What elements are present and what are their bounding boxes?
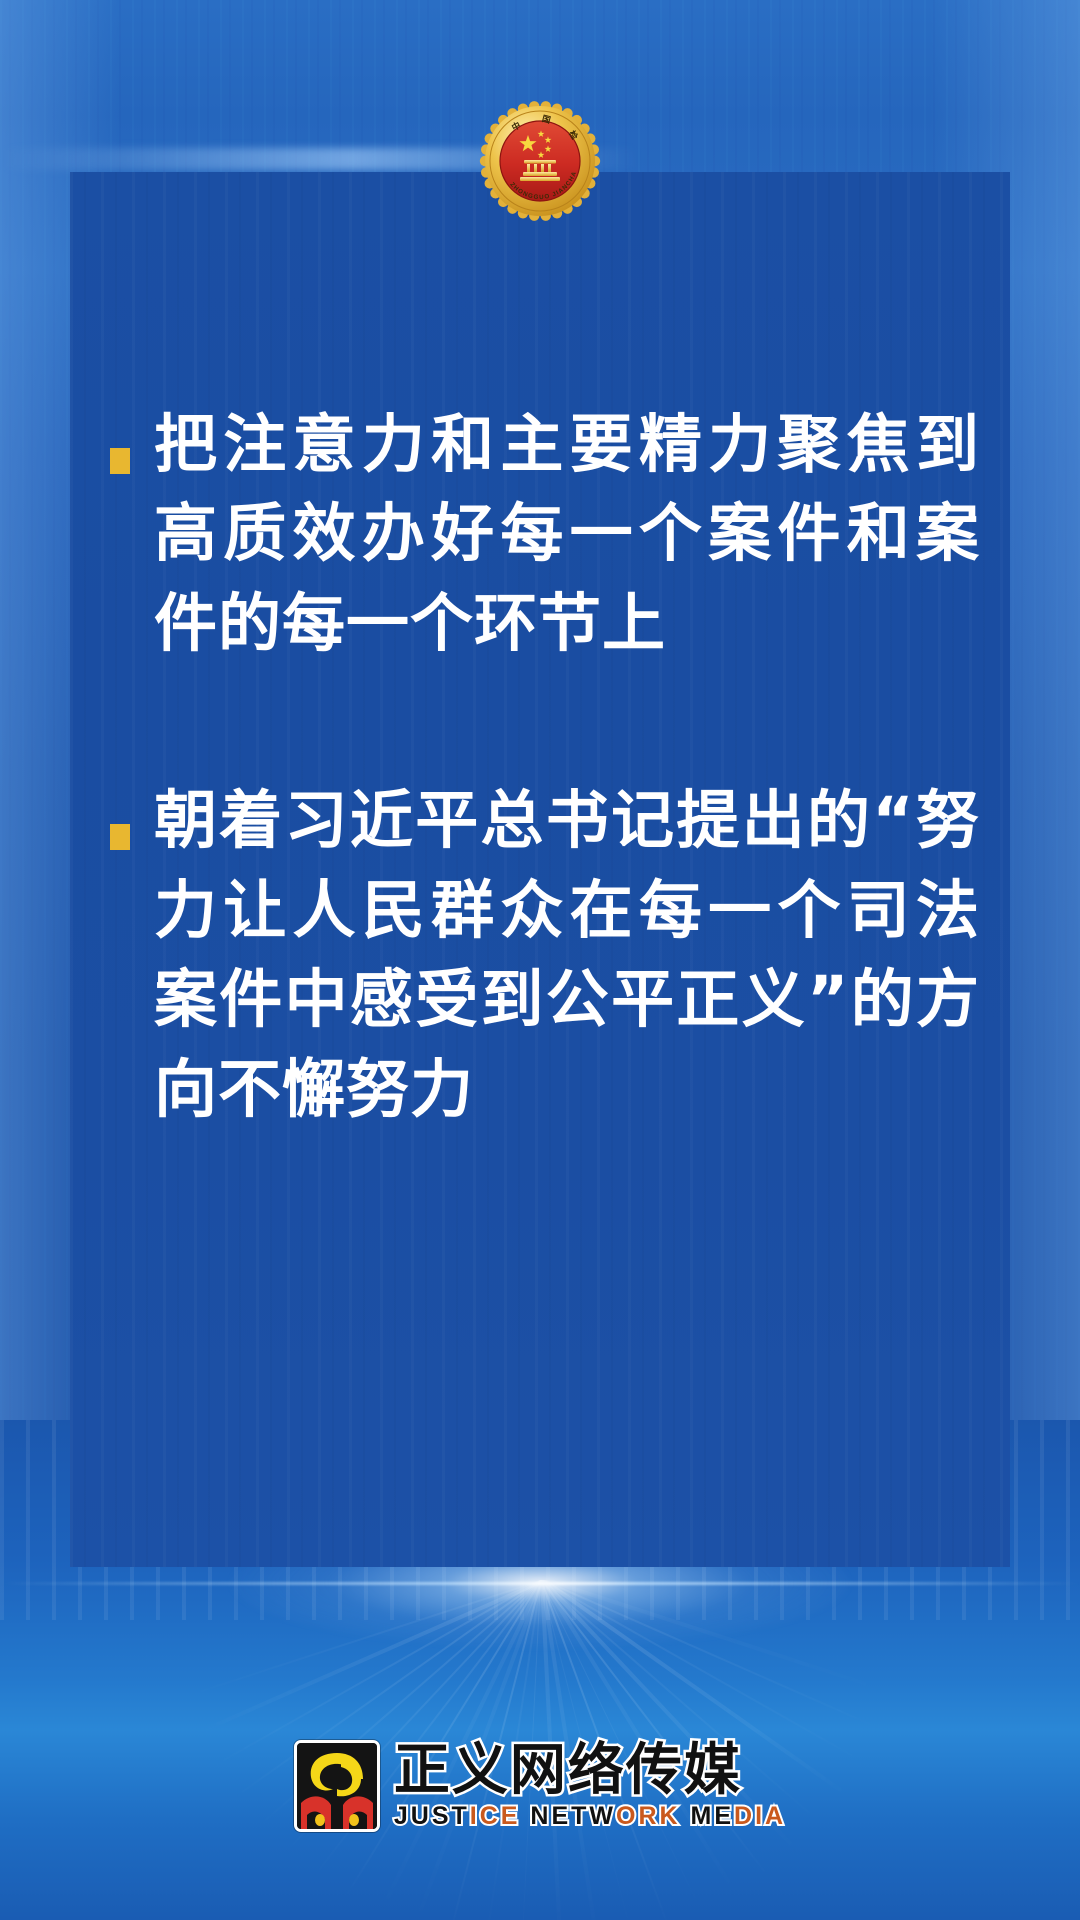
list-item: 朝着习近平总书记提出的“努力让人民群众在每一个司法案件中感受到公平正义”的方向不… <box>110 776 980 1134</box>
china-procuratorate-emblem: 中 国 检 察 ZHONGGUO JIANCHA <box>479 100 601 222</box>
list-item: 把注意力和主要精力聚焦到高质效办好每一个案件和案件的每一个环节上 <box>110 400 980 668</box>
brand-name-en: JUSTICE NETWORK MEDIA <box>394 1803 786 1829</box>
brand-text: 正义网络传媒 JUSTICE NETWORK MEDIA <box>394 1742 786 1829</box>
bullet-text: 把注意力和主要精力聚焦到高质效办好每一个案件和案件的每一个环节上 <box>154 400 980 668</box>
brand-en-part: ICE <box>470 1802 521 1830</box>
poster-root: 中 国 检 察 ZHONGGUO JIANCHA 把注意力和主要精力聚焦到高质效… <box>0 0 1080 1920</box>
brand-en-part: ME <box>681 1802 734 1830</box>
brand-name-cn: 正义网络传媒 <box>394 1742 786 1799</box>
brand-en-part: JUST <box>394 1802 470 1830</box>
brand-en-part: DIA <box>734 1802 786 1830</box>
brand-en-part: NETW <box>520 1802 616 1830</box>
brand-en-part: ORK <box>616 1802 681 1830</box>
justice-network-media-logo-mark <box>294 1740 380 1832</box>
bullet-square-icon <box>110 448 130 474</box>
emblem-container: 中 国 检 察 ZHONGGUO JIANCHA <box>0 100 1080 222</box>
bullet-list: 把注意力和主要精力聚焦到高质效办好每一个案件和案件的每一个环节上 朝着习近平总书… <box>70 400 1010 1134</box>
bullet-text: 朝着习近平总书记提出的“努力让人民群众在每一个司法案件中感受到公平正义”的方向不… <box>154 776 980 1134</box>
footer-brand: 正义网络传媒 JUSTICE NETWORK MEDIA <box>0 1740 1080 1832</box>
bullet-square-icon <box>110 824 130 850</box>
